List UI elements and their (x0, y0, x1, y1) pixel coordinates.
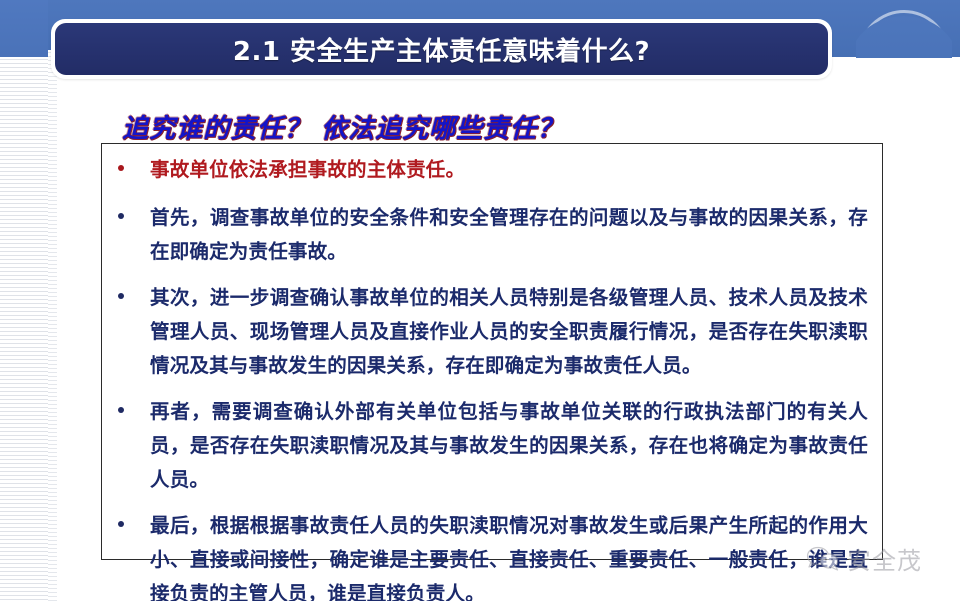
list-item: 其次，进一步调查确认事故单位的相关人员特别是各级管理人员、技术人员及技术管理人员… (114, 281, 868, 383)
list-item-text: 首先，调查事故单位的安全条件和安全管理存在的问题以及与事故的因果关系，存在即确定… (150, 201, 868, 269)
list-item-text: 再者，需要调查确认外部有关单位包括与事故单位关联的行政执法部门的有关人员，是否存… (150, 395, 868, 497)
list-item: 最后，根据根据事故责任人员的失职渎职情况对事故发生或后果产生所起的作用大小、直接… (114, 509, 868, 601)
bullet-dot-icon (118, 407, 124, 413)
bullet-dot-icon (118, 521, 124, 527)
list-item: 事故单位依法承担事故的主体责任。 (114, 153, 868, 187)
content-box: 事故单位依法承担事故的主体责任。 首先，调查事故单位的安全条件和安全管理存在的问… (101, 143, 883, 560)
list-item-text: 事故单位依法承担事故的主体责任。 (150, 153, 868, 187)
bullet-dot-icon (118, 165, 124, 171)
left-stripe-texture-secondary (48, 50, 57, 601)
list-item-text: 其次，进一步调查确认事故单位的相关人员特别是各级管理人员、技术人员及技术管理人员… (150, 281, 868, 383)
page-title: 2.1 安全生产主体责任意味着什么? (233, 31, 650, 68)
slide-canvas: 2.1 安全生产主体责任意味着什么? 追究谁的责任？ 依法追究哪些责任？ 事故单… (0, 0, 960, 601)
list-item: 再者，需要调查确认外部有关单位包括与事故单位关联的行政执法部门的有关人员，是否存… (114, 395, 868, 497)
list-item: 首先，调查事故单位的安全条件和安全管理存在的问题以及与事故的因果关系，存在即确定… (114, 201, 868, 269)
left-stripe-texture (0, 57, 48, 601)
section-subheading: 追究谁的责任？ 依法追究哪些责任？ (122, 108, 564, 145)
left-blue-block (0, 0, 48, 57)
bullet-dot-icon (118, 213, 124, 219)
list-item-text: 最后，根据根据事故责任人员的失职渎职情况对事故发生或后果产生所起的作用大小、直接… (150, 509, 868, 601)
bullet-dot-icon (118, 293, 124, 299)
title-bar: 2.1 安全生产主体责任意味着什么? (55, 23, 828, 75)
bullet-list: 事故单位依法承担事故的主体责任。 首先，调查事故单位的安全条件和安全管理存在的问… (102, 144, 882, 601)
